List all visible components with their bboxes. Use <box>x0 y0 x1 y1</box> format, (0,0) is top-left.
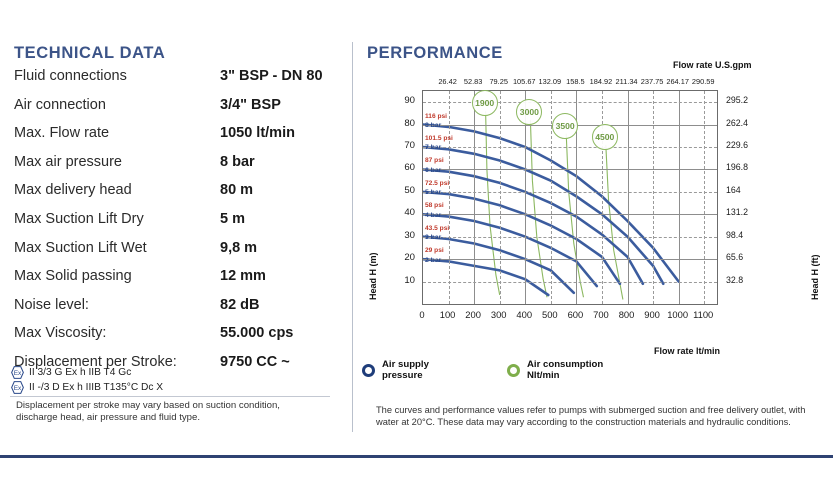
atex-certification-block: ExII 3/3 G Ex h IIB T4 GcExII -/3 D Ex h… <box>11 366 163 396</box>
legend-line2: Nlt/min <box>527 370 560 381</box>
spec-label: Max Suction Lift Wet <box>14 240 220 256</box>
displacement-footnote: Displacement per stroke may vary based o… <box>16 400 316 423</box>
datasheet-page: TECHNICAL DATA PERFORMANCE Fluid connect… <box>0 0 833 500</box>
gridline-h <box>423 192 717 193</box>
spec-row: Max Viscosity:55.000 cps <box>14 325 339 354</box>
curve-pressure-label: 43.5 psi3 bar <box>425 224 465 243</box>
spec-label: Fluid connections <box>14 68 220 84</box>
y-tick-label: 70 <box>389 140 415 151</box>
atex-ex-icon: Ex <box>11 366 24 379</box>
curve-bar: 3 bar <box>425 233 465 242</box>
curve-pressure-label: 72.5 psi5 bar <box>425 179 465 198</box>
gridline-h <box>423 259 717 260</box>
spec-value: 9750 CC ~ <box>220 354 290 370</box>
y2-tick-label: 98.4 <box>726 230 760 240</box>
spec-value: 5 m <box>220 211 245 227</box>
y2-tick-label: 196.8 <box>726 162 760 172</box>
curve-psi: 58 psi <box>425 201 465 210</box>
spec-row: Max. Flow rate1050 lt/min <box>14 125 339 154</box>
curve-bar: 5 bar <box>425 188 465 197</box>
gridline-h <box>423 147 717 148</box>
left-axis-title: Head H (m) <box>368 252 378 300</box>
svg-text:Ex: Ex <box>14 370 22 377</box>
spec-label: Air connection <box>14 97 220 113</box>
footer-space <box>0 458 833 500</box>
spec-row: Max Solid passing12 mm <box>14 268 339 297</box>
gridline-h <box>423 282 717 283</box>
gridline-v <box>679 91 680 304</box>
spec-value: 1050 lt/min <box>220 125 295 141</box>
performance-note: The curves and performance values refer … <box>376 404 826 428</box>
air-consumption-bubble: 1900 <box>472 90 498 116</box>
spec-value: 82 dB <box>220 297 260 313</box>
atex-ex-icon: Ex <box>11 381 24 394</box>
spec-value: 3" BSP - DN 80 <box>220 68 323 84</box>
spec-label: Max Solid passing <box>14 268 220 284</box>
legend-marker-icon <box>507 364 520 377</box>
gridline-v <box>474 91 475 304</box>
spec-label: Max air pressure <box>14 154 220 170</box>
spec-row: Air connection3/4" BSP <box>14 97 339 126</box>
curve-bar: 6 bar <box>425 166 465 175</box>
y-tick-label: 50 <box>389 185 415 196</box>
air-consumption-bubble: 3500 <box>552 113 578 139</box>
curve-pressure-label: 116 psi8 bar <box>425 112 465 131</box>
curve-psi: 29 psi <box>425 246 465 255</box>
spec-value: 80 m <box>220 182 253 198</box>
column-divider <box>352 42 353 432</box>
spec-value: 55.000 cps <box>220 325 293 341</box>
legend-item: Air consumptionNlt/min <box>507 360 603 382</box>
spec-value: 12 mm <box>220 268 266 284</box>
gridline-v <box>704 91 705 304</box>
legend-line1: Air supply <box>382 359 429 370</box>
curve-pressure-label: 29 psi2 bar <box>425 246 465 265</box>
legend-marker-icon <box>362 364 375 377</box>
y-tick-label: 20 <box>389 252 415 263</box>
atex-text: II 3/3 G Ex h IIB T4 Gc <box>29 367 131 378</box>
spec-value: 8 bar <box>220 154 255 170</box>
y-tick-label: 30 <box>389 230 415 241</box>
y2-tick-label: 295.2 <box>726 95 760 105</box>
y-tick-label: 40 <box>389 207 415 218</box>
legend-line2: pressure <box>382 370 423 381</box>
gridline-v <box>602 91 603 304</box>
legend-label: Air supplypressure <box>382 360 429 382</box>
gridline-v <box>653 91 654 304</box>
atex-text: II -/3 D Ex h IIIB T135°C Dc X <box>29 382 163 393</box>
top-tick-label: 290.59 <box>686 77 720 86</box>
curve-bar: 2 bar <box>425 256 465 265</box>
specifications-table: Fluid connections3" BSP - DN 80Air conne… <box>14 68 339 383</box>
gridline-h <box>423 102 717 103</box>
spec-label: Max Viscosity: <box>14 325 220 341</box>
legend-line1: Air consumption <box>527 359 603 370</box>
curve-psi: 43.5 psi <box>425 224 465 233</box>
spec-value: 9,8 m <box>220 240 257 256</box>
spec-row: Noise level:82 dB <box>14 297 339 326</box>
curve-psi: 101.5 psi <box>425 134 465 143</box>
y2-tick-label: 262.4 <box>726 118 760 128</box>
curve-bar: 4 bar <box>425 211 465 220</box>
y2-tick-label: 229.6 <box>726 140 760 150</box>
y2-tick-label: 131.2 <box>726 207 760 217</box>
gridline-h <box>423 214 717 215</box>
gridline-h <box>423 237 717 238</box>
top-axis-title: Flow rate U.S.gpm <box>673 60 752 70</box>
curve-psi: 87 psi <box>425 156 465 165</box>
atex-row: ExII 3/3 G Ex h IIB T4 Gc <box>11 366 163 379</box>
x-tick-label: 1100 <box>688 309 718 320</box>
technical-data-heading: TECHNICAL DATA <box>14 44 165 63</box>
legend-label: Air consumptionNlt/min <box>527 360 603 382</box>
spec-row: Max delivery head80 m <box>14 182 339 211</box>
y-tick-label: 60 <box>389 162 415 173</box>
gridline-v <box>500 91 501 304</box>
curve-pressure-label: 58 psi4 bar <box>425 201 465 220</box>
spec-value: 3/4" BSP <box>220 97 281 113</box>
spec-row: Fluid connections3" BSP - DN 80 <box>14 68 339 97</box>
footnote-divider <box>10 396 330 397</box>
air-consumption-bubble: 4500 <box>592 124 618 150</box>
spec-label: Max. Flow rate <box>14 125 220 141</box>
spec-row: Max Suction Lift Wet9,8 m <box>14 240 339 269</box>
legend-item: Air supplypressure <box>362 360 429 382</box>
spec-label: Max delivery head <box>14 182 220 198</box>
atex-row: ExII -/3 D Ex h IIIB T135°C Dc X <box>11 381 163 394</box>
spec-label: Max Suction Lift Dry <box>14 211 220 227</box>
spec-row: Max air pressure8 bar <box>14 154 339 183</box>
curve-pressure-label: 101.5 psi7 bar <box>425 134 465 153</box>
y-tick-label: 90 <box>389 95 415 106</box>
y-tick-label: 10 <box>389 275 415 286</box>
spec-label: Noise level: <box>14 297 220 313</box>
gridline-v <box>628 91 629 304</box>
y2-tick-label: 32.8 <box>726 275 760 285</box>
bottom-axis-title: Flow rate lt/min <box>654 346 720 356</box>
curve-bar: 8 bar <box>425 121 465 130</box>
performance-chart: Flow rate U.S.gpm Flow rate lt/min Head … <box>358 60 828 360</box>
curve-pressure-label: 87 psi6 bar <box>425 156 465 175</box>
gridline-h <box>423 169 717 170</box>
y2-tick-label: 65.6 <box>726 252 760 262</box>
y-tick-label: 80 <box>389 118 415 129</box>
curve-bar: 7 bar <box>425 143 465 152</box>
curve-psi: 116 psi <box>425 112 465 121</box>
y2-tick-label: 164 <box>726 185 760 195</box>
spec-row: Max Suction Lift Dry5 m <box>14 211 339 240</box>
right-axis-title: Head H (ft) <box>810 255 820 301</box>
curve-psi: 72.5 psi <box>425 179 465 188</box>
svg-text:Ex: Ex <box>14 385 22 392</box>
